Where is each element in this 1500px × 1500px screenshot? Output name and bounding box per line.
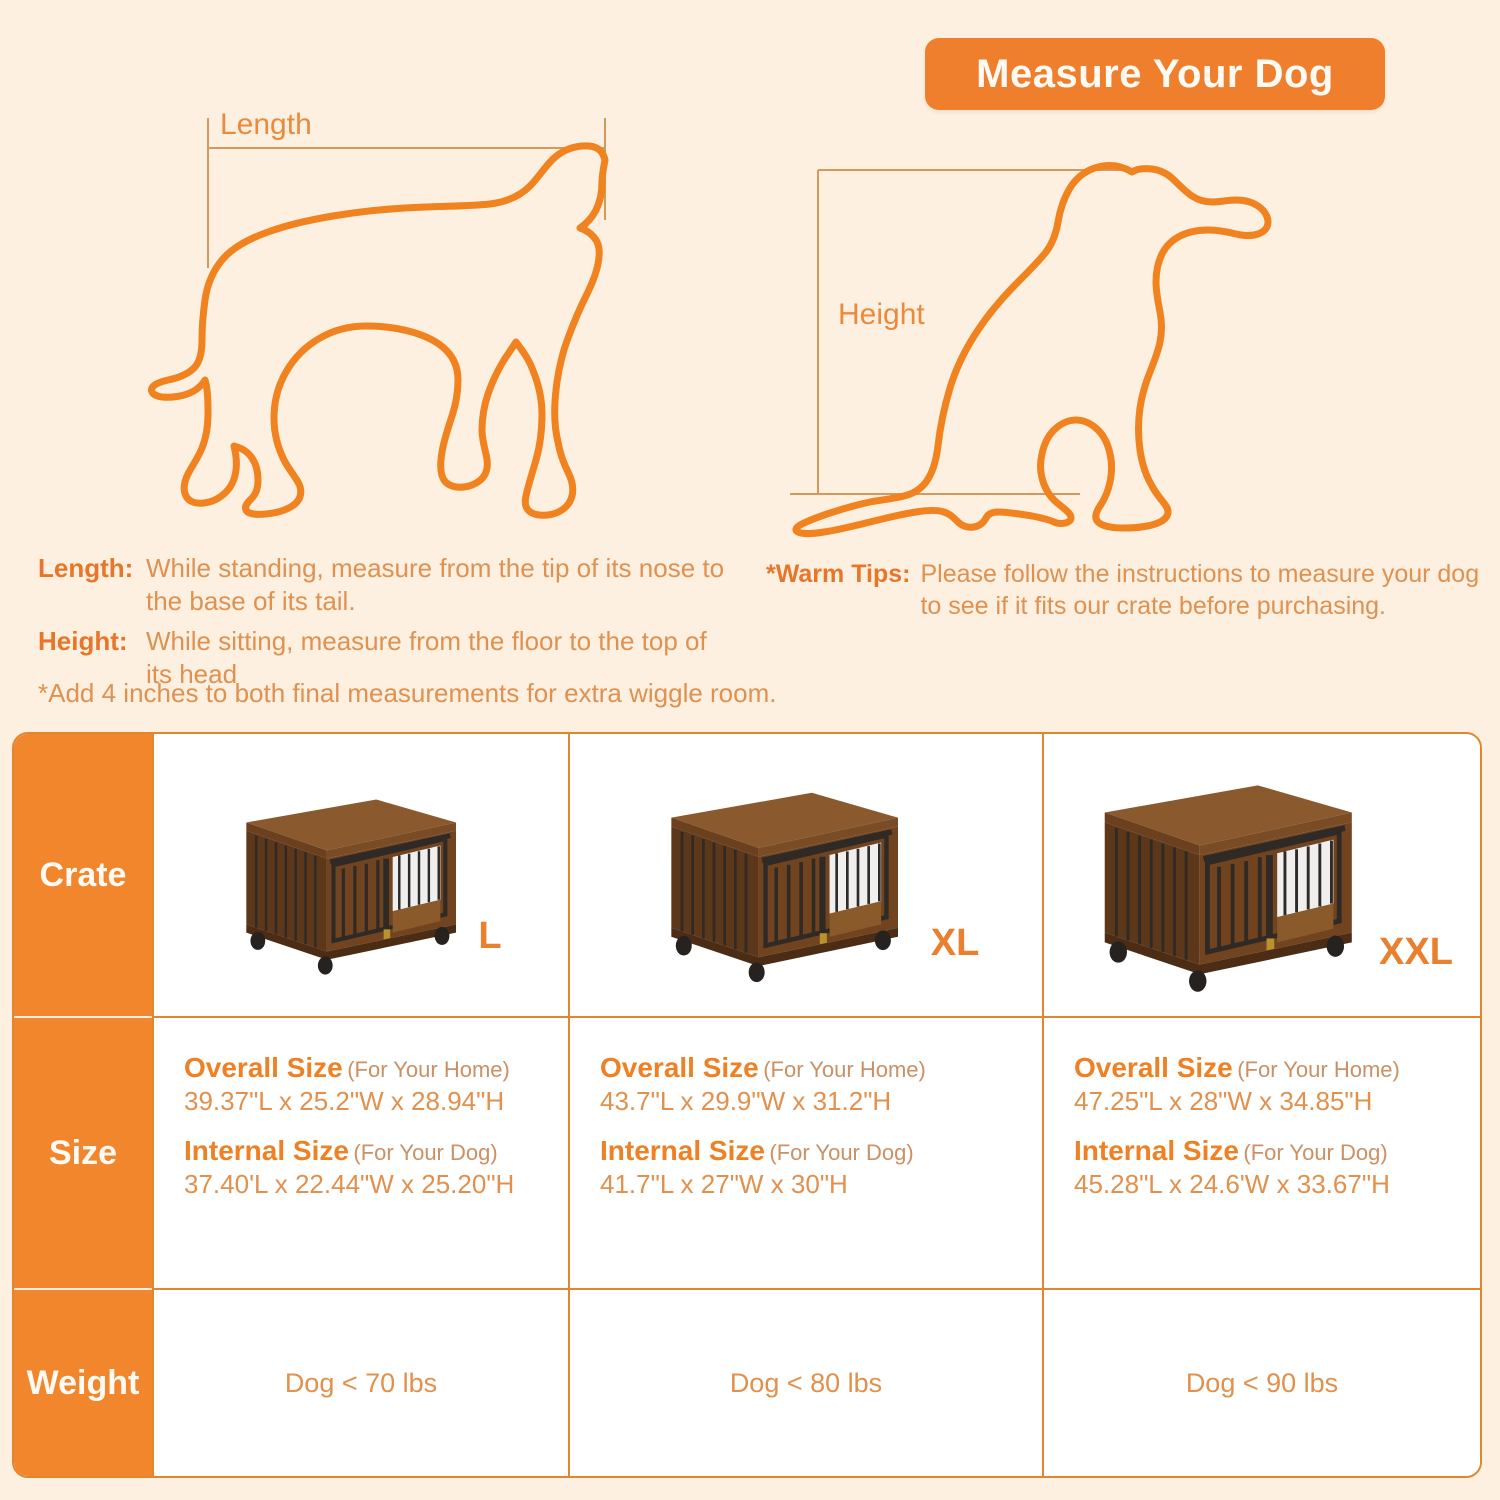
internal-size-dims-l: 37.40'L x 22.44"W x 25.20"H <box>184 1169 568 1200</box>
weight-value-l: Dog < 70 lbs <box>285 1368 437 1399</box>
instruction-length: Length: While standing, measure from the… <box>38 552 738 619</box>
standing-dog-outline-icon <box>151 146 605 515</box>
measuring-instructions: Length: While standing, measure from the… <box>38 552 738 697</box>
weight-cell-xxl: Dog < 90 lbs <box>1042 1290 1480 1476</box>
size-cell-xxl: Overall Size (For Your Home) 47.25"L x 2… <box>1042 1018 1480 1290</box>
length-label: Length <box>210 108 322 142</box>
crate-cell-xxl: XXL <box>1042 734 1480 1018</box>
size-cell-xl: Overall Size (For Your Home) 43.7"L x 29… <box>568 1018 1042 1290</box>
height-label: Height <box>828 298 935 332</box>
instruction-height-key: Height: <box>38 625 146 658</box>
wiggle-room-note: *Add 4 inches to both final measurements… <box>38 678 777 709</box>
crate-cell-xl: XL <box>568 734 1042 1018</box>
weight-cell-xl: Dog < 80 lbs <box>568 1290 1042 1476</box>
internal-size-dims-xxl: 45.28"L x 24.6'W x 33.67"H <box>1074 1169 1480 1200</box>
weight-value-xl: Dog < 80 lbs <box>730 1368 882 1399</box>
size-tag-xl: XL <box>931 922 980 965</box>
internal-size-note-l: (For Your Dog) <box>353 1140 497 1165</box>
badge-title-text: Measure Your Dog <box>976 52 1334 97</box>
overall-size-dims-xxl: 47.25"L x 28"W x 34.85"H <box>1074 1086 1480 1117</box>
size-comparison-table: Crate <box>12 732 1482 1478</box>
warm-tips-text: Please follow the instructions to measur… <box>920 558 1486 622</box>
row-header-crate: Crate <box>14 734 152 1018</box>
crate-cell-l: L <box>152 734 568 1018</box>
dog-crate-image-xxl <box>1071 766 1371 984</box>
overall-size-dims-xl: 43.7"L x 29.9"W x 31.2"H <box>600 1086 1042 1117</box>
sitting-dog-svg <box>780 150 1310 540</box>
size-tag-l: L <box>478 915 501 958</box>
overall-size-label-l: Overall Size <box>184 1052 343 1083</box>
overall-size-dims-l: 39.37"L x 25.2"W x 28.94"H <box>184 1086 568 1117</box>
length-diagram <box>150 100 650 530</box>
row-header-weight: Weight <box>14 1290 152 1476</box>
size-tag-xxl: XXL <box>1379 931 1453 974</box>
row-header-size: Size <box>14 1018 152 1290</box>
overall-size-note-xxl: (For Your Home) <box>1237 1057 1400 1082</box>
weight-cell-l: Dog < 70 lbs <box>152 1290 568 1476</box>
standing-dog-svg <box>150 100 650 530</box>
overall-size-label-xxl: Overall Size <box>1074 1052 1233 1083</box>
instruction-length-key: Length: <box>38 552 146 585</box>
dog-crate-image-xl <box>633 775 923 975</box>
instruction-length-text: While standing, measure from the tip of … <box>146 552 738 619</box>
warm-tips: *Warm Tips: Please follow the instructio… <box>766 558 1486 622</box>
sitting-dog-outline-icon <box>796 166 1268 534</box>
overall-size-note-xl: (For Your Home) <box>763 1057 926 1082</box>
internal-size-label-xxl: Internal Size <box>1074 1135 1239 1166</box>
warm-tips-key: *Warm Tips: <box>766 558 910 590</box>
overall-size-label-xl: Overall Size <box>600 1052 759 1083</box>
internal-size-dims-xl: 41.7"L x 27"W x 30"H <box>600 1169 1042 1200</box>
internal-size-note-xl: (For Your Dog) <box>769 1140 913 1165</box>
size-cell-l: Overall Size (For Your Home) 39.37"L x 2… <box>152 1018 568 1290</box>
infographic-page: Measure Your Dog Length Height <box>0 0 1500 1500</box>
measure-your-dog-badge: Measure Your Dog <box>925 38 1385 110</box>
weight-value-xxl: Dog < 90 lbs <box>1186 1368 1338 1399</box>
height-dimension-lines <box>790 170 1132 494</box>
dog-crate-image-l <box>220 783 470 968</box>
internal-size-label-xl: Internal Size <box>600 1135 765 1166</box>
height-diagram <box>780 150 1310 540</box>
internal-size-label-l: Internal Size <box>184 1135 349 1166</box>
overall-size-note-l: (For Your Home) <box>347 1057 510 1082</box>
internal-size-note-xxl: (For Your Dog) <box>1243 1140 1387 1165</box>
